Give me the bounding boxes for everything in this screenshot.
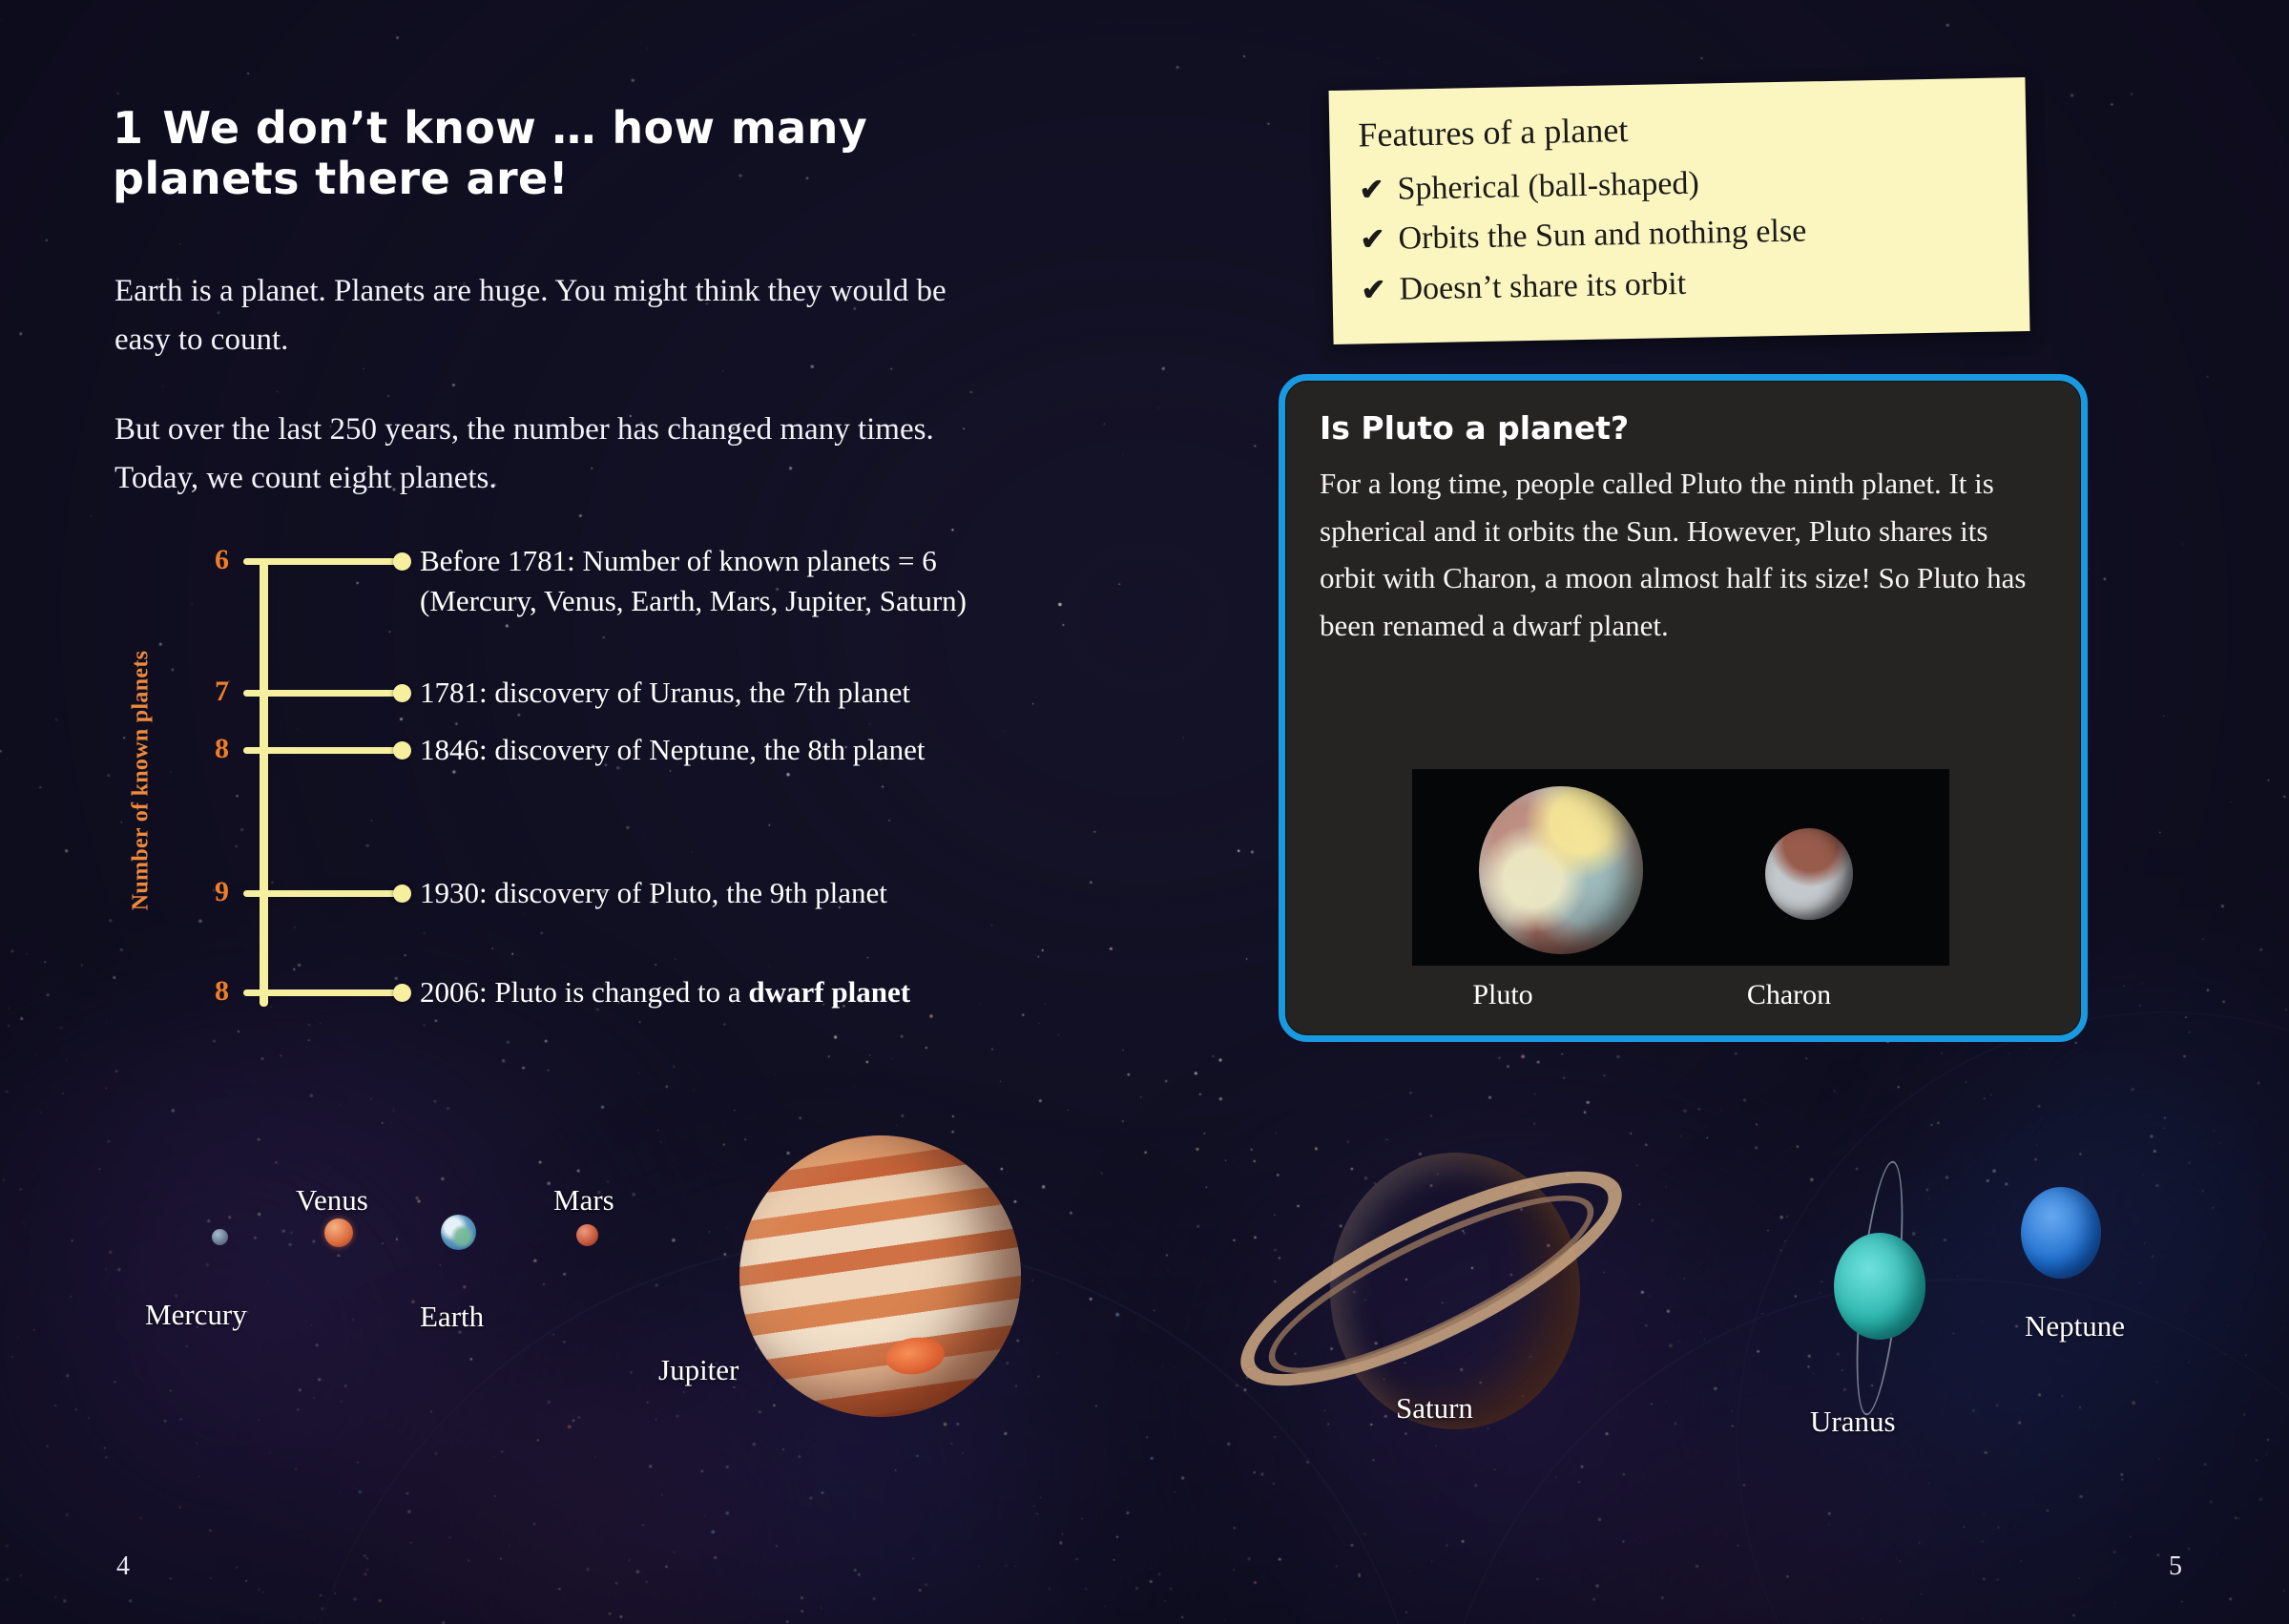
tick-connector: [243, 989, 401, 996]
features-list: ✔ Spherical (ball-shaped) ✔ Orbits the S…: [1359, 154, 2001, 315]
feature-label: Orbits the Sun and nothing else: [1398, 211, 1807, 260]
chapter-number: 1: [113, 102, 143, 154]
entry-line-1: Before 1781: Number of known planets = 6: [420, 544, 937, 577]
tick-connector: [243, 747, 401, 754]
check-icon: ✔: [1359, 171, 1384, 210]
planet-label-saturn: Saturn: [1396, 1391, 1473, 1426]
pluto-box-body: For a long time, people called Pluto the…: [1320, 460, 2047, 649]
tick-marker: [393, 741, 411, 760]
tick-marker: [393, 552, 411, 571]
chart-y-axis-label: Number of known planets: [129, 651, 155, 911]
pluto-photo-disc: [1479, 786, 1643, 954]
tick-value: 6: [191, 544, 229, 576]
features-of-a-planet-box: Features of a planet ✔ Spherical (ball-s…: [1329, 77, 2030, 344]
known-planets-timeline-chart: Number of known planets 6 Before 1781: N…: [114, 534, 1097, 1031]
tick-value: 9: [191, 876, 229, 908]
planet-label-mercury: Mercury: [145, 1298, 247, 1332]
entry-text-bold: dwarf planet: [748, 975, 910, 1009]
timeline-entry-label: 1846: discovery of Neptune, the 8th plan…: [420, 730, 1126, 770]
entry-line-2: (Mercury, Venus, Earth, Mars, Jupiter, S…: [420, 584, 967, 617]
tick-connector: [243, 690, 401, 697]
entry-text: 2006: Pluto is changed to a: [420, 975, 748, 1009]
features-box-title: Features of a planet: [1358, 103, 1998, 156]
tick-marker: [393, 984, 411, 1002]
timeline-entry-label: 1781: discovery of Uranus, the 7th plane…: [420, 673, 1126, 713]
feature-label: Spherical (ball-shaped): [1397, 163, 1699, 211]
page-title: 1We don’t know … how many planets there …: [113, 103, 1067, 205]
check-icon: ✔: [1361, 270, 1386, 309]
tick-connector: [243, 890, 401, 897]
tick-value: 7: [191, 676, 229, 708]
tick-marker: [393, 684, 411, 702]
body-paragraph-2: But over the last 250 years, the number …: [114, 406, 1002, 503]
feature-label: Doesn’t share its orbit: [1399, 262, 1686, 310]
tick-connector: [243, 558, 401, 565]
planet-label-mars: Mars: [553, 1183, 614, 1218]
chapter-title-text: We don’t know … how many planets there a…: [113, 102, 867, 204]
pluto-charon-photograph: [1412, 769, 1949, 966]
timeline-entry-label: Before 1781: Number of known planets = 6…: [420, 541, 1126, 621]
planet-label-earth: Earth: [420, 1300, 484, 1334]
check-icon: ✔: [1360, 220, 1385, 260]
page-number-left: 4: [116, 1551, 130, 1582]
page-number-right: 5: [2169, 1551, 2182, 1582]
planet-label-jupiter: Jupiter: [658, 1353, 739, 1387]
planet-label-venus: Venus: [296, 1183, 368, 1218]
timeline-entry-label: 1930: discovery of Pluto, the 9th planet: [420, 873, 1126, 913]
tick-marker: [393, 885, 411, 903]
tick-value: 8: [191, 975, 229, 1008]
tick-value: 8: [191, 733, 229, 765]
photo-caption-pluto: Pluto: [1412, 979, 1593, 1011]
planet-label-neptune: Neptune: [2025, 1309, 2125, 1343]
pluto-box-title: Is Pluto a planet?: [1320, 409, 2047, 447]
chart-axis-line: [260, 561, 268, 1007]
timeline-entry-label: 2006: Pluto is changed to a dwarf planet: [420, 972, 1126, 1012]
charon-photo-disc: [1765, 828, 1853, 920]
planet-label-uranus: Uranus: [1810, 1405, 1896, 1439]
body-paragraph-1: Earth is a planet. Planets are huge. You…: [114, 267, 1002, 364]
photo-caption-charon: Charon: [1698, 979, 1880, 1011]
left-page: 1We don’t know … how many planets there …: [0, 0, 1144, 1624]
